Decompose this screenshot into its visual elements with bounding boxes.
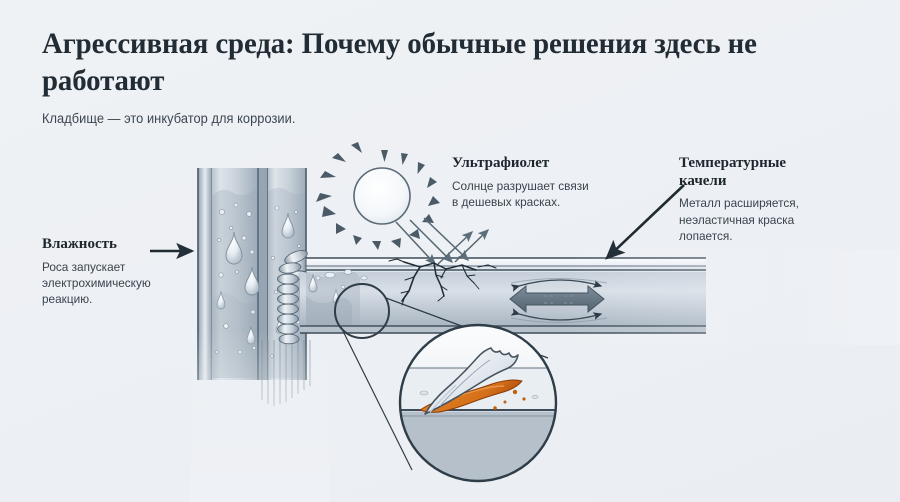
callout-uv-title: Ультрафиолет	[452, 155, 667, 173]
page-title: Агрессивная среда: Почему обычные решени…	[42, 26, 800, 99]
callout-humidity: Влажность Роса запускает электрохимическ…	[42, 236, 210, 307]
callout-thermal-title: Температурные качели	[679, 155, 884, 190]
callout-thermal: Температурные качели Металл расширяется,…	[679, 155, 884, 244]
callout-uv: Ультрафиолет Солнце разрушает связи в де…	[452, 155, 667, 210]
magnifier-circle-detail	[400, 325, 556, 481]
page-subtitle: Кладбище — это инкубатор для коррозии.	[42, 111, 793, 126]
infographic-canvas: Агрессивная среда: Почему обычные решени…	[0, 0, 900, 502]
header: Агрессивная среда: Почему обычные решени…	[42, 26, 832, 126]
uv-rays	[396, 218, 488, 264]
callout-humidity-title: Влажность	[42, 236, 210, 254]
vertical-post	[190, 168, 330, 502]
sun	[316, 142, 440, 250]
callout-thermal-body: Металл расширяется, неэластичная краска …	[679, 195, 884, 244]
callout-humidity-body: Роса запускает электрохимическую реакцию…	[42, 259, 210, 308]
callout-uv-body: Солнце разрушает связи в дешевых красках…	[452, 178, 667, 211]
